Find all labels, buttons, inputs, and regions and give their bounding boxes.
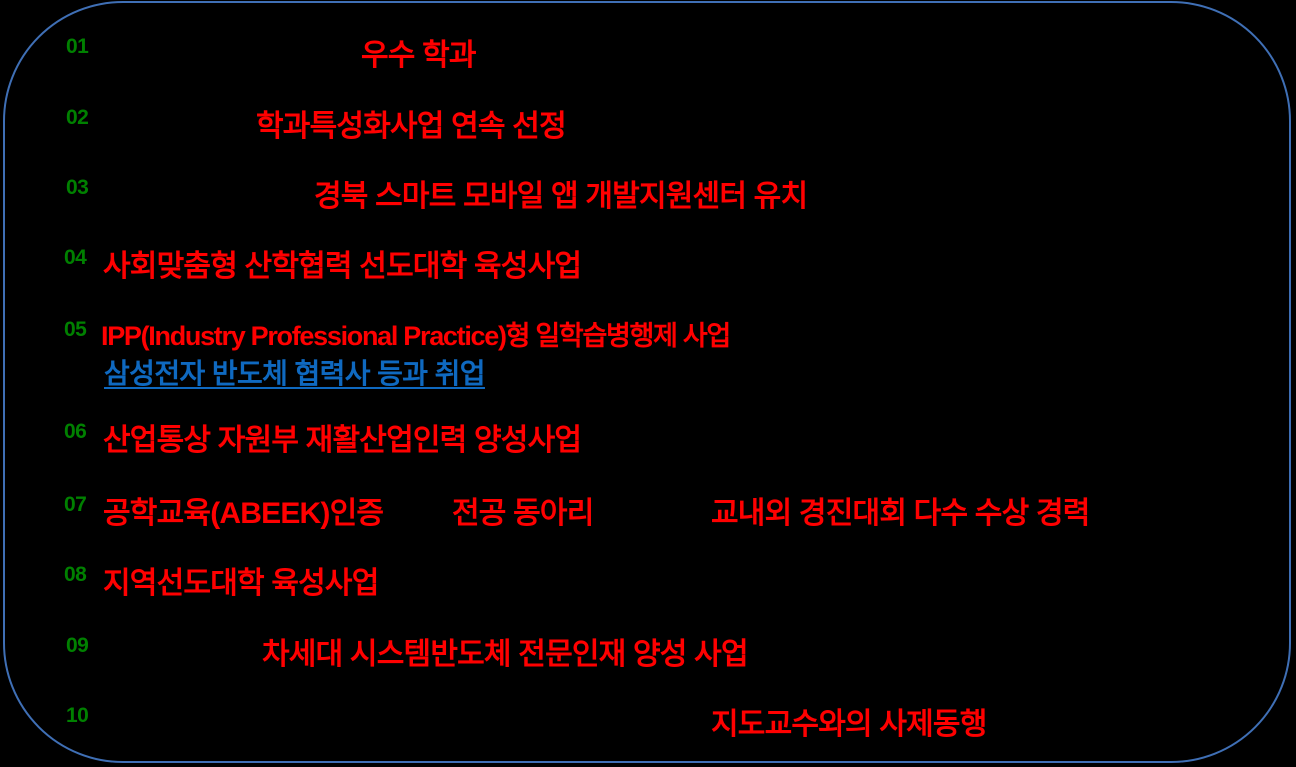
list-item: 02 [66, 106, 88, 130]
list-item-title: 공학교육(ABEEK)인증 [103, 488, 383, 532]
list-item: 05 [64, 318, 86, 342]
list-item-number: 02 [66, 106, 88, 130]
list-item: 08 [64, 563, 86, 587]
list-item-title: 지역선도대학 육성사업 [103, 558, 379, 602]
list-item-number: 04 [64, 246, 86, 270]
list-item-title: 학과특성화사업 연속 선정 [256, 101, 566, 145]
list-item-title: IPP(Industry Professional Practice)형 일학습… [101, 314, 730, 353]
list-item: 07 [64, 493, 86, 517]
list-item-title: 사회맞춤형 산학협력 선도대학 육성사업 [103, 241, 581, 285]
list-item: 03 [66, 176, 88, 200]
list-item-title: 우수 학과 [361, 30, 476, 74]
list-item: 10 [66, 704, 88, 728]
list-item-number: 03 [66, 176, 88, 200]
list-item-number: 07 [64, 493, 86, 517]
list-item-title-segment-3: 교내외 경진대회 다수 수상 경력 [711, 488, 1090, 532]
list-item: 06 [64, 420, 86, 444]
list-item-number: 01 [66, 35, 88, 59]
list-item: 01 [66, 35, 88, 59]
list-item-title: 지도교수와의 사제동행 [711, 699, 987, 743]
list-item-title-segment-2: 전공 동아리 [452, 488, 594, 532]
achievement-list: 01 우수 학과 02 학과특성화사업 연속 선정 03 경북 스마트 모바일 … [0, 0, 1296, 767]
list-item-number: 10 [66, 704, 88, 728]
list-item-number: 05 [64, 318, 86, 342]
list-item-number: 08 [64, 563, 86, 587]
list-item-number: 09 [66, 634, 88, 658]
list-item-number: 06 [64, 420, 86, 444]
list-item: 09 [66, 634, 88, 658]
list-item-title: 산업통상 자원부 재활산업인력 양성사업 [103, 415, 581, 459]
list-item-sublink[interactable]: 삼성전자 반도체 협력사 등과 취업 [104, 352, 485, 392]
list-item-title: 차세대 시스템반도체 전문인재 양성 사업 [262, 629, 748, 673]
list-item: 04 [64, 246, 86, 270]
list-item-title: 경북 스마트 모바일 앱 개발지원센터 유치 [314, 171, 807, 215]
slide-canvas: 01 우수 학과 02 학과특성화사업 연속 선정 03 경북 스마트 모바일 … [0, 0, 1296, 767]
